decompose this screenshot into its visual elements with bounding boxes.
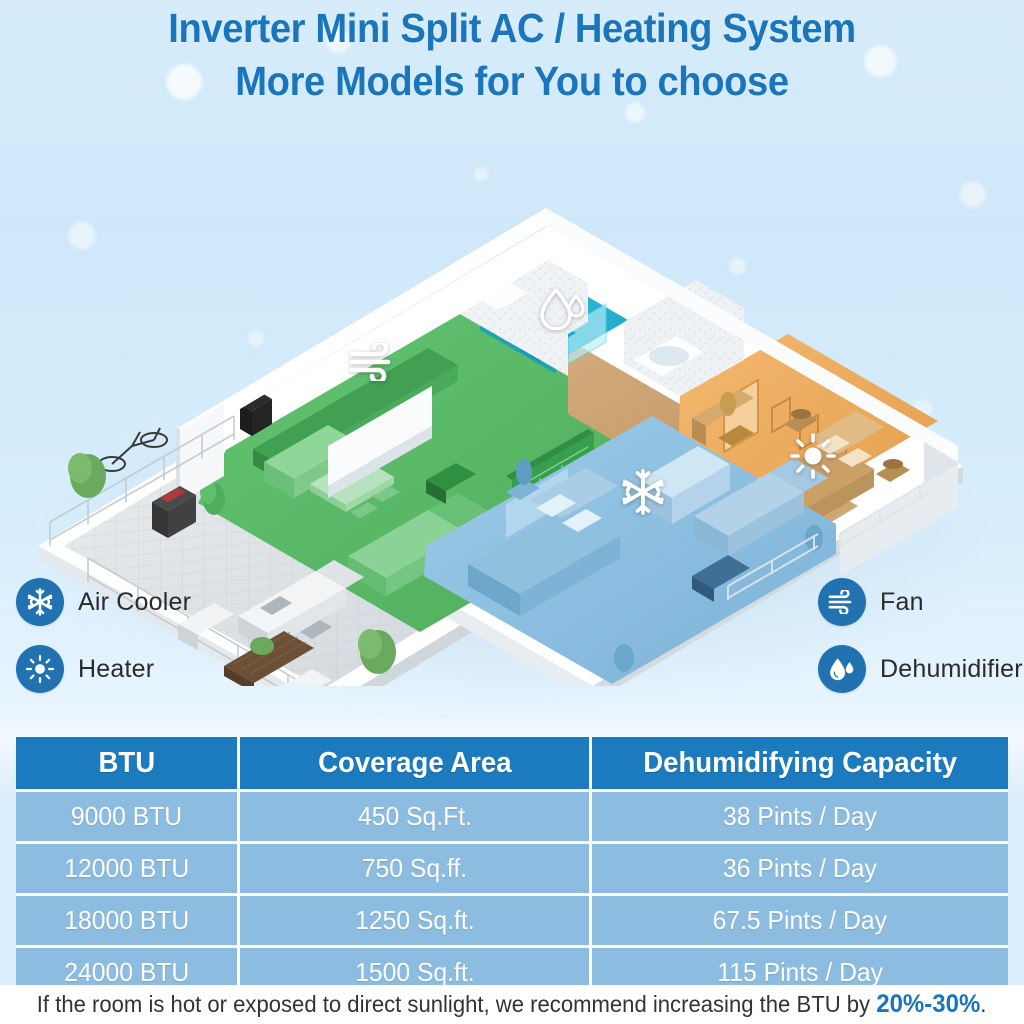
cell-coverage: 750 Sq.ff. [240, 844, 592, 893]
water-drop-icon [538, 286, 586, 335]
sun-icon [790, 433, 836, 484]
fan-icon [348, 343, 400, 386]
legend-circle-dehumidifier [818, 645, 866, 693]
title-line-1: Inverter Mini Split AC / Heating System [36, 2, 988, 55]
legend-circle-fan [818, 578, 866, 626]
table-header-dehumidifying-capacity: Dehumidifying Capacity [592, 737, 1008, 789]
infographic-page: Inverter Mini Split AC / Heating System … [0, 0, 1024, 1024]
footer-note: If the room is hot or exposed to direct … [0, 985, 1024, 1024]
snowflake-icon [25, 587, 55, 617]
footer-highlight: 20%-30% [877, 990, 981, 1018]
legend-item-heater: Heater [16, 645, 154, 693]
water-drop-icon [827, 655, 857, 683]
legend-label-fan: Fan [880, 588, 924, 617]
table-row: 18000 BTU 1250 Sq.ft. 67.5 Pints / Day [16, 893, 1008, 945]
cell-btu: 12000 BTU [16, 844, 240, 893]
cell-coverage: 1250 Sq.ft. [240, 896, 592, 945]
legend-circle-air-cooler [16, 578, 64, 626]
btu-specs-table: BTU Coverage Area Dehumidifying Capacity… [16, 737, 1008, 997]
footer-text: If the room is hot or exposed to direct … [37, 991, 876, 1017]
title-line-2: More Models for You to choose [36, 55, 988, 108]
cell-btu: 18000 BTU [16, 896, 240, 945]
sun-icon [25, 654, 55, 684]
table-header-btu: BTU [16, 737, 240, 789]
cell-capacity: 38 Pints / Day [592, 792, 1008, 841]
legend-label-air-cooler: Air Cooler [78, 588, 191, 617]
legend-item-fan: Fan [818, 578, 924, 626]
legend-label-heater: Heater [78, 655, 154, 684]
cell-capacity: 67.5 Pints / Day [592, 896, 1008, 945]
table-header-coverage-area: Coverage Area [240, 737, 592, 789]
footer-suffix: . [981, 991, 987, 1017]
table-row: 12000 BTU 750 Sq.ff. 36 Pints / Day [16, 841, 1008, 893]
cell-capacity: 36 Pints / Day [592, 844, 1008, 893]
legend-label-dehumidifier: Dehumidifier [880, 655, 1023, 684]
legend-item-dehumidifier: Dehumidifier [818, 645, 1023, 693]
table-row: 9000 BTU 450 Sq.Ft. 38 Pints / Day [16, 789, 1008, 841]
footer-text-wrap: If the room is hot or exposed to direct … [37, 990, 987, 1019]
legend-circle-heater [16, 645, 64, 693]
cell-coverage: 450 Sq.Ft. [240, 792, 592, 841]
snowflake-icon [619, 468, 667, 521]
page-title: Inverter Mini Split AC / Heating System … [0, 2, 1024, 108]
legend-item-air-cooler: Air Cooler [16, 578, 191, 626]
table-header-row: BTU Coverage Area Dehumidifying Capacity [16, 737, 1008, 789]
fan-icon [827, 590, 857, 614]
table-body: 9000 BTU 450 Sq.Ft. 38 Pints / Day 12000… [16, 789, 1008, 997]
cell-btu: 9000 BTU [16, 792, 240, 841]
